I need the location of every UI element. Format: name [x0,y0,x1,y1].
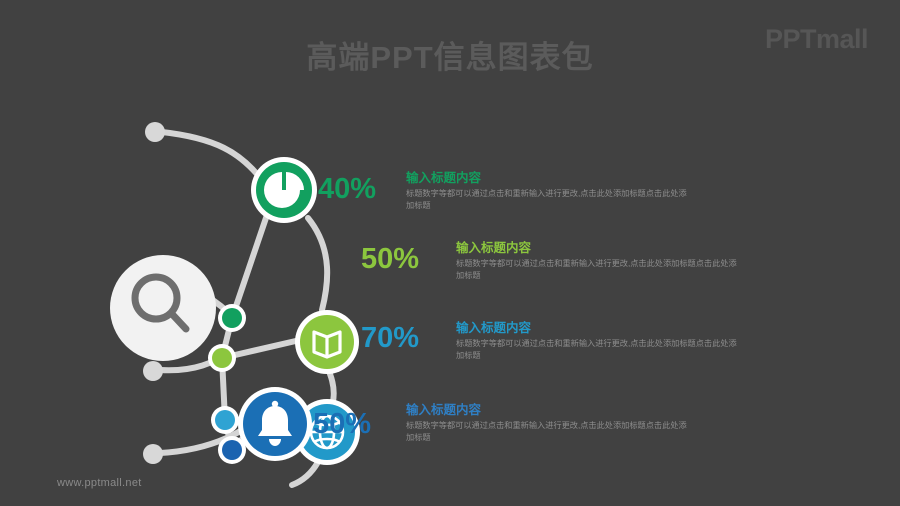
item-4-body: 标题数字等都可以通过点击和重新输入进行更改,点击此处添加标题点击此处添加标题 [406,420,694,444]
item-1-body: 标题数字等都可以通过点击和重新输入进行更改,点击此处添加标题点击此处添加标题 [406,188,694,212]
item-2-body: 标题数字等都可以通过点击和重新输入进行更改,点击此处添加标题点击此处添加标题 [456,258,744,282]
item-4-title: 输入标题内容 [406,402,706,418]
item-3-body: 标题数字等都可以通过点击和重新输入进行更改,点击此处添加标题点击此处添加标题 [456,338,744,362]
item-3-text: 输入标题内容 标题数字等都可以通过点击和重新输入进行更改,点击此处添加标题点击此… [456,320,756,362]
small-dot-2 [208,344,236,372]
item-2-text: 输入标题内容 标题数字等都可以通过点击和重新输入进行更改,点击此处添加标题点击此… [456,240,756,282]
connector-node3-to-node4 [292,462,318,485]
pptmall-logo: PPTmall [765,24,868,55]
small-dot-1 [218,304,246,332]
item-2-percent: 50% [361,243,419,276]
small-dot-3 [211,406,239,434]
node-pie-chart [251,157,317,223]
item-1-percent: 40% [318,173,376,206]
node-alarm [238,387,312,461]
item-2-title: 输入标题内容 [456,240,756,256]
item-4-percent: 50% [313,408,371,441]
connector-node1-to-node2 [308,218,327,310]
center-search-node [110,255,216,361]
node-map [295,310,359,374]
connector-top-left [162,132,262,180]
item-4-text: 输入标题内容 标题数字等都可以通过点击和重新输入进行更改,点击此处添加标题点击此… [406,402,706,444]
endpoint-dot-lower [143,361,163,381]
item-3-percent: 70% [361,322,419,355]
item-3-title: 输入标题内容 [456,320,756,336]
item-1-text: 输入标题内容 标题数字等都可以通过点击和重新输入进行更改,点击此处添加标题点击此… [406,170,706,212]
item-1-title: 输入标题内容 [406,170,706,186]
slide-canvas: 高端PPT信息图表包 PPTmall www.pptmall.net [0,0,900,506]
endpoint-dot-bottom [143,444,163,464]
center-node-circle [110,255,216,361]
endpoint-dot-top [145,122,165,142]
connector-dot1-to-node1 [232,212,268,318]
